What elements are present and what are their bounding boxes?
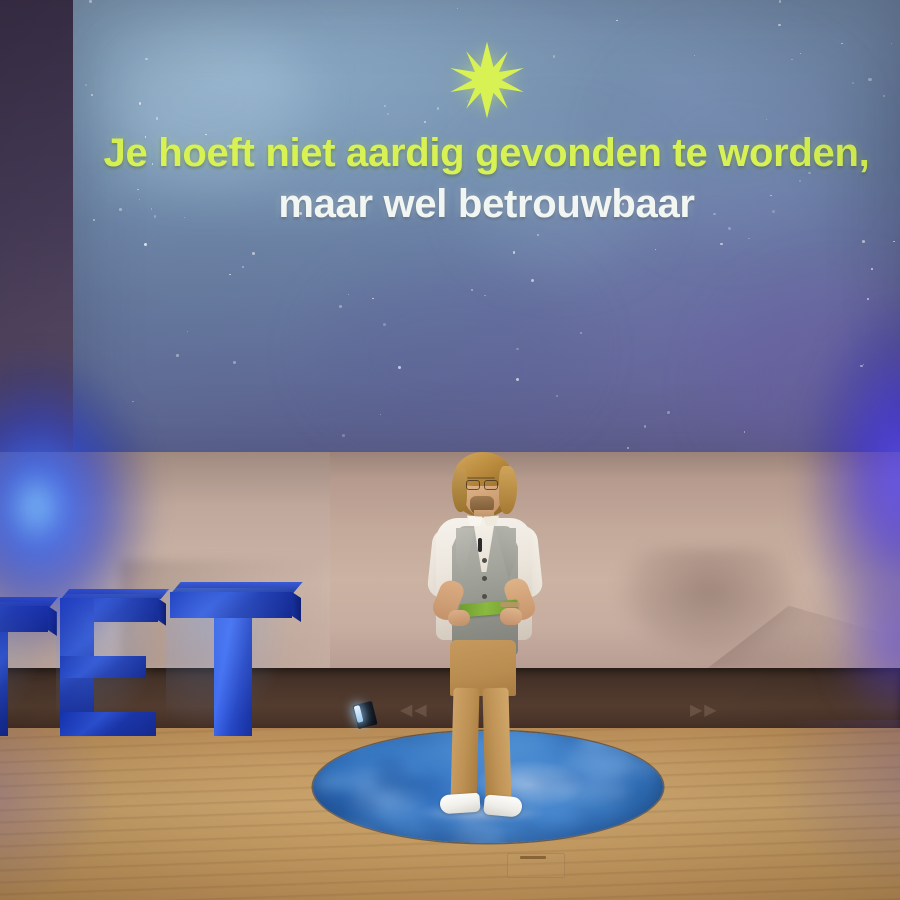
trouser-leg-right xyxy=(482,688,511,807)
sneaker-right xyxy=(483,794,523,817)
eyeglasses-icon xyxy=(466,480,498,488)
slide-headline-line-1: Je hoeft niet aardig gevonden te worden, xyxy=(73,128,900,179)
slide-text-block: Je hoeft niet aardig gevonden te worden,… xyxy=(73,128,900,230)
hair-side-right xyxy=(499,466,517,514)
waistcoat-button xyxy=(482,576,487,581)
spotlight-glow-left xyxy=(0,330,190,670)
sneaker-left xyxy=(439,793,480,815)
wristband xyxy=(500,602,520,607)
hair-side-left xyxy=(452,468,467,512)
brow xyxy=(467,477,495,479)
base-arrow-right: ▶▶ xyxy=(690,700,719,720)
hand-left xyxy=(448,610,470,626)
floor-access-hatch xyxy=(507,853,565,878)
hand-right xyxy=(500,608,522,625)
floor-glow-left xyxy=(0,728,220,900)
waistcoat-button xyxy=(482,594,487,599)
spotlight-glow-right-lower xyxy=(760,560,900,780)
waistcoat-button xyxy=(482,558,487,563)
eight-point-star-icon xyxy=(447,40,527,120)
stage-scene: Je hoeft niet aardig gevonden te worden,… xyxy=(0,0,900,900)
presenter xyxy=(404,452,564,817)
trouser-leg-left xyxy=(450,688,479,805)
slide-headline-line-2: maar wel betrouwbaar xyxy=(73,179,900,230)
lapel-microphone xyxy=(478,538,482,552)
